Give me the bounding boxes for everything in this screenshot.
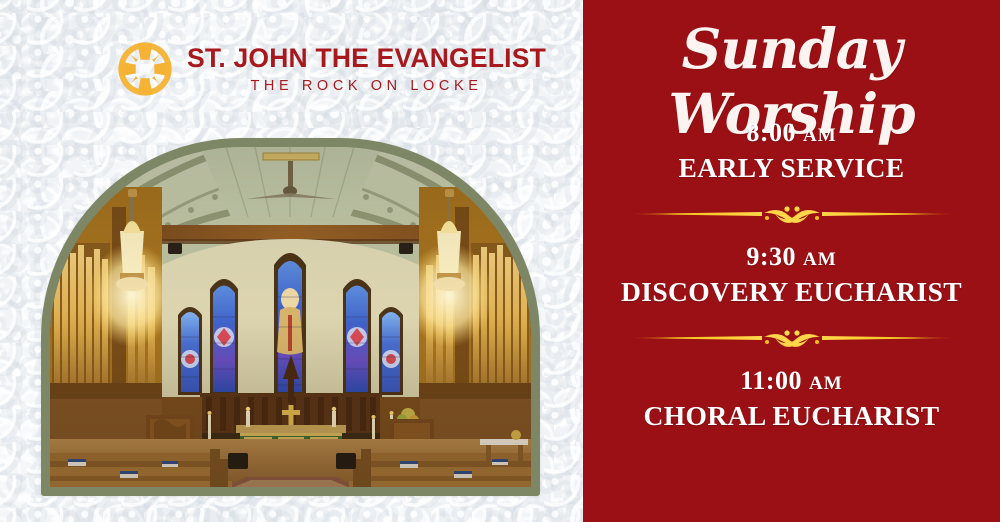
service-name: DISCOVERY EUCHARIST — [583, 275, 1000, 308]
service-time-value: 11:00 — [740, 366, 802, 395]
logo-wordmark: ST. JOHN THE EVANGELIST THE ROCK ON LOCK… — [187, 45, 546, 94]
church-logo: ST. JOHN THE EVANGELIST THE ROCK ON LOCK… — [116, 40, 546, 98]
service-name: CHORAL EUCHARIST — [583, 399, 1000, 432]
flourish-divider-icon — [622, 325, 962, 351]
ornamental-divider — [583, 201, 1000, 227]
worship-times-poster: ST. JOHN THE EVANGELIST THE ROCK ON LOCK… — [0, 0, 1000, 522]
worship-info-panel: Sunday Worship 8:00 AM EARLY SERVICE — [583, 0, 1000, 522]
church-interior-photo — [50, 147, 531, 487]
church-interior-illustration — [50, 147, 531, 487]
service-time-value: 9:30 — [746, 242, 796, 271]
service-list: 8:00 AM EARLY SERVICE — [583, 118, 1000, 432]
left-panel: ST. JOHN THE EVANGELIST THE ROCK ON LOCK… — [0, 0, 583, 522]
service-item: 9:30 AM DISCOVERY EUCHARIST — [583, 242, 1000, 308]
church-tagline: THE ROCK ON LOCKE — [250, 79, 482, 94]
church-name: ST. JOHN THE EVANGELIST — [187, 45, 546, 72]
service-time-meridiem: AM — [809, 373, 843, 394]
maltese-cross-icon — [116, 40, 174, 98]
service-time-meridiem: AM — [803, 249, 837, 270]
flourish-divider-icon — [622, 201, 962, 227]
service-time: 11:00 AM — [583, 366, 1000, 395]
service-item: 8:00 AM EARLY SERVICE — [583, 118, 1000, 184]
service-name: EARLY SERVICE — [583, 151, 1000, 184]
service-time-value: 8:00 — [746, 118, 796, 147]
service-item: 11:00 AM CHORAL EUCHARIST — [583, 366, 1000, 432]
church-photo-frame — [41, 138, 540, 496]
service-time: 9:30 AM — [583, 242, 1000, 271]
service-time-meridiem: AM — [803, 125, 837, 146]
ornamental-divider — [583, 325, 1000, 351]
service-time: 8:00 AM — [583, 118, 1000, 147]
